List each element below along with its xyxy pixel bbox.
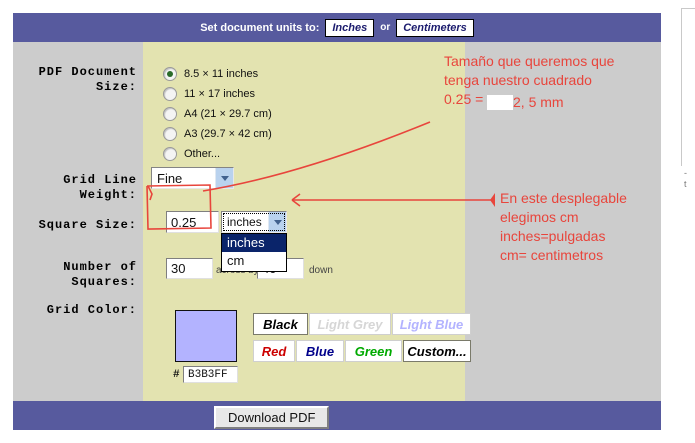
radio-option-4[interactable]: Other... bbox=[163, 147, 220, 161]
color-preset-light-blue[interactable]: Light Blue bbox=[392, 313, 471, 335]
radio-icon[interactable] bbox=[163, 87, 177, 101]
square-size-label: Square Size: bbox=[21, 218, 137, 233]
radio-option-2[interactable]: A4 (21 × 29.7 cm) bbox=[163, 107, 272, 121]
color-preset-custom[interactable]: Custom... bbox=[403, 340, 471, 362]
grid-color-hex-input[interactable]: B3B3FF bbox=[183, 366, 238, 383]
grid-color-swatch[interactable] bbox=[175, 310, 237, 362]
color-preset-light-grey[interactable]: Light Grey bbox=[309, 313, 391, 335]
color-preset-red[interactable]: Red bbox=[253, 340, 295, 362]
square-size-unit-dropdown-list[interactable]: inches cm bbox=[221, 233, 287, 272]
units-label: Set document units to: bbox=[200, 22, 319, 34]
dropdown-option-inches[interactable]: inches bbox=[222, 234, 286, 252]
annotation-top-right: Tamaño que queremos que tenga nuestro cu… bbox=[444, 52, 689, 109]
radio-label: A3 (29.7 × 42 cm) bbox=[184, 128, 272, 140]
square-size-unit-value: inches bbox=[222, 215, 268, 229]
annotation-right: En este desplegable elegimos cm inches=p… bbox=[500, 189, 695, 265]
annotation-top-right-value: 2, 5 mm bbox=[513, 93, 564, 112]
radio-icon[interactable] bbox=[163, 147, 177, 161]
down-text: down bbox=[309, 265, 333, 276]
squares-across-input[interactable]: 30 bbox=[166, 258, 213, 279]
page-root: -t Set document units to: Inches or Cent… bbox=[0, 0, 695, 443]
radio-label: 11 × 17 inches bbox=[184, 88, 255, 100]
pdf-document-size-label: PDF Document Size: bbox=[21, 65, 137, 95]
radio-icon[interactable] bbox=[163, 107, 177, 121]
square-size-unit-select[interactable]: inches bbox=[221, 211, 287, 233]
radio-label: A4 (21 × 29.7 cm) bbox=[184, 108, 272, 120]
download-pdf-button[interactable]: Download PDF bbox=[214, 406, 329, 429]
radio-label: Other... bbox=[184, 148, 220, 160]
color-preset-blue[interactable]: Blue bbox=[296, 340, 344, 362]
radio-option-0[interactable]: 8.5 × 11 inches bbox=[163, 67, 258, 81]
units-centimeters-button[interactable]: Centimeters bbox=[396, 19, 474, 37]
grid-line-weight-select[interactable]: Fine bbox=[151, 167, 234, 189]
units-or-text: or bbox=[380, 22, 390, 33]
square-size-input[interactable]: 0.25 bbox=[166, 211, 219, 233]
radio-icon[interactable] bbox=[163, 67, 177, 81]
grid-line-weight-label: Grid Line Weight: bbox=[21, 173, 137, 203]
document-units-bar: Set document units to: Inches or Centime… bbox=[13, 13, 661, 42]
hex-hash-symbol: # bbox=[173, 369, 180, 381]
grid-color-label: Grid Color: bbox=[21, 303, 137, 318]
radio-label: 8.5 × 11 inches bbox=[184, 68, 258, 80]
radio-icon[interactable] bbox=[163, 127, 177, 141]
chevron-down-icon[interactable] bbox=[215, 168, 233, 188]
chevron-down-icon[interactable] bbox=[268, 212, 286, 232]
radio-option-1[interactable]: 11 × 17 inches bbox=[163, 87, 255, 101]
color-preset-green[interactable]: Green bbox=[345, 340, 402, 362]
dropdown-option-cm[interactable]: cm bbox=[222, 252, 286, 270]
download-bar bbox=[13, 401, 661, 430]
grid-line-weight-value: Fine bbox=[152, 171, 215, 186]
radio-option-3[interactable]: A3 (29.7 × 42 cm) bbox=[163, 127, 272, 141]
number-of-squares-label: Number of Squares: bbox=[21, 260, 137, 290]
color-preset-black[interactable]: Black bbox=[253, 313, 308, 335]
units-inches-button[interactable]: Inches bbox=[325, 19, 374, 37]
